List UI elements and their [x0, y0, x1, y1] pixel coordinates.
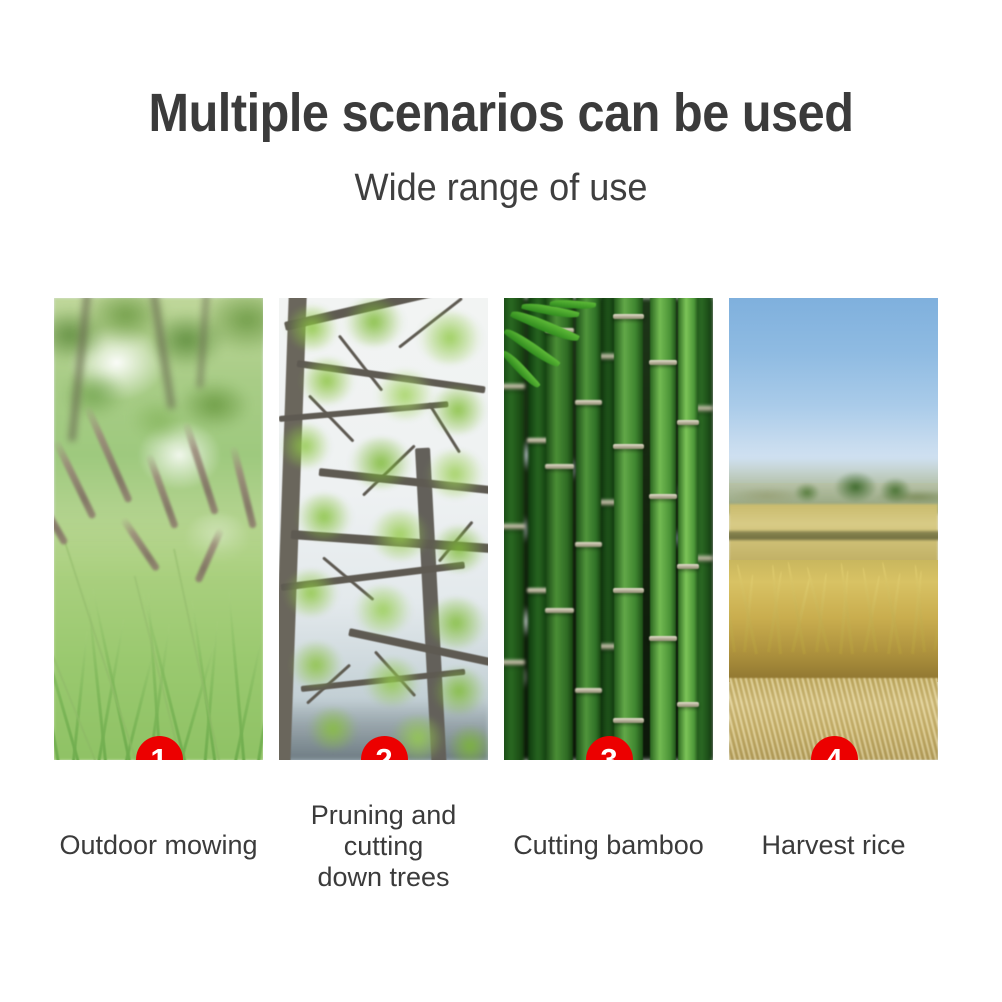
- scenario-panel-2[interactable]: 2: [279, 298, 488, 760]
- photo-rice-paddy-field: [729, 298, 938, 760]
- caption-line: Harvest rice: [729, 830, 938, 861]
- caption-line: cutting: [279, 831, 488, 862]
- scenario-panel-3[interactable]: 3: [504, 298, 713, 760]
- scenario-caption-row: Outdoor mowing Pruning and cutting down …: [54, 800, 950, 893]
- page-header: Multiple scenarios can be used Wide rang…: [0, 0, 1002, 210]
- scenario-caption-2: Pruning and cutting down trees: [279, 800, 488, 893]
- caption-line: down trees: [279, 862, 488, 893]
- photo-tree-branches-canopy: [279, 298, 488, 760]
- caption-line: Outdoor mowing: [54, 830, 263, 861]
- scenario-caption-3: Cutting bamboo: [504, 800, 713, 893]
- photo-outdoor-grass-meadow: [54, 298, 263, 760]
- page-title: Multiple scenarios can be used: [50, 0, 952, 142]
- caption-line: Pruning and: [279, 800, 488, 831]
- scenario-caption-4: Harvest rice: [729, 800, 938, 893]
- page-subtitle: Wide range of use: [25, 142, 977, 210]
- scenario-panel-1[interactable]: 1: [54, 298, 263, 760]
- photo-bamboo-culms: [504, 298, 713, 760]
- caption-line: Cutting bamboo: [504, 830, 713, 861]
- scenario-panel-grid: 1: [54, 298, 950, 760]
- scenario-caption-1: Outdoor mowing: [54, 800, 263, 893]
- scenario-panel-4[interactable]: 4: [729, 298, 938, 760]
